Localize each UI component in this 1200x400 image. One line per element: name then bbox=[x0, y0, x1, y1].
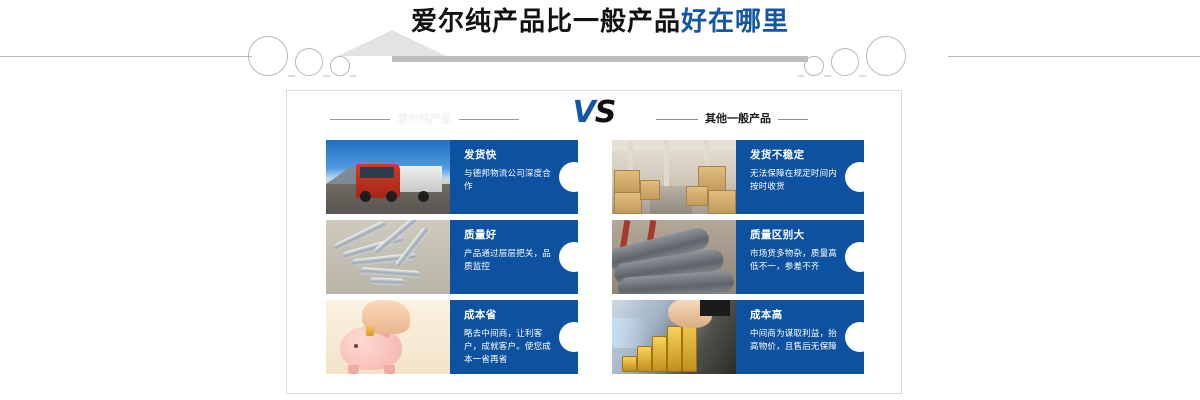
left-column-label: 爱尔纯产品 bbox=[397, 112, 452, 126]
vs-letter-s: S bbox=[595, 95, 616, 130]
card-notch-cutout bbox=[845, 242, 864, 272]
card-title: 发货不稳定 bbox=[750, 149, 838, 162]
card-thumbnail bbox=[612, 220, 736, 294]
drawback-card[interactable]: 质量区别大 市场货多物杂，质量高低不一，参差不齐 bbox=[612, 220, 864, 294]
card-title: 质量好 bbox=[464, 229, 552, 242]
page-title: 爱尔纯产品比一般产品好在哪里 bbox=[0, 8, 1200, 37]
card-thumbnail bbox=[326, 140, 450, 214]
warehouse-boxes-icon bbox=[612, 140, 736, 214]
header-rule-left bbox=[0, 56, 252, 57]
advantage-card[interactable]: 成本省 略去中间商，让利客户，成就客户。使您成本一省再省 bbox=[326, 300, 578, 374]
card-description: 无法保障在规定时间内按时收货 bbox=[750, 168, 838, 194]
card-title: 成本省 bbox=[464, 309, 552, 322]
advantage-card[interactable]: 质量好 产品通过层层把关，品质监控 bbox=[326, 220, 578, 294]
card-body: 质量区别大 市场货多物杂，质量高低不一，参差不齐 bbox=[736, 220, 864, 294]
card-title: 成本高 bbox=[750, 309, 838, 322]
page-title-main: 爱尔纯产品比一般产品 bbox=[411, 7, 681, 37]
page-header: 爱尔纯产品比一般产品好在哪里 bbox=[0, 0, 1200, 84]
card-description: 中间商为谋取利益，抬高物价，且售后无保障 bbox=[750, 328, 838, 354]
drawback-card[interactable]: 发货不稳定 无法保障在规定时间内按时收货 bbox=[612, 140, 864, 214]
decor-link bbox=[859, 75, 866, 76]
decor-circle-medium-icon bbox=[295, 48, 323, 76]
card-notch-cutout bbox=[845, 162, 864, 192]
drawback-card[interactable]: 成本高 中间商为谋取利益，抬高物价，且售后无保障 bbox=[612, 300, 864, 374]
decor-link bbox=[824, 75, 831, 76]
card-notch-cutout bbox=[559, 322, 578, 352]
card-body: 发货不稳定 无法保障在规定时间内按时收货 bbox=[736, 140, 864, 214]
card-body: 质量好 产品通过层层把关，品质监控 bbox=[450, 220, 578, 294]
vs-letter-v: V bbox=[573, 95, 595, 130]
concrete-pipes-icon bbox=[612, 220, 736, 294]
card-description: 产品通过层层把关，品质监控 bbox=[464, 248, 552, 274]
card-thumbnail bbox=[612, 300, 736, 374]
card-thumbnail bbox=[612, 140, 736, 214]
card-body: 成本省 略去中间商，让利客户，成就客户。使您成本一省再省 bbox=[450, 300, 578, 374]
card-thumbnail bbox=[326, 300, 450, 374]
advantage-card[interactable]: 发货快 与德邦物流公司深度合作 bbox=[326, 140, 578, 214]
divider-dash bbox=[459, 119, 519, 120]
divider-dash bbox=[656, 119, 698, 120]
card-notch-cutout bbox=[559, 162, 578, 192]
card-body: 成本高 中间商为谋取利益，抬高物价，且售后无保障 bbox=[736, 300, 864, 374]
decor-circle-large-icon bbox=[248, 36, 288, 76]
card-title: 质量区别大 bbox=[750, 229, 838, 242]
card-title: 发货快 bbox=[464, 149, 552, 162]
right-column-label: 其他一般产品 bbox=[705, 112, 771, 126]
page-title-highlight: 好在哪里 bbox=[681, 7, 789, 37]
card-body: 发货快 与德邦物流公司深度合作 bbox=[450, 140, 578, 214]
decor-link bbox=[288, 75, 295, 76]
right-column-header: 其他一般产品 bbox=[656, 112, 808, 126]
divider-dash bbox=[330, 119, 390, 120]
left-column-header: 爱尔纯产品 bbox=[330, 112, 519, 126]
decor-link bbox=[323, 75, 330, 76]
card-description: 市场货多物杂，质量高低不一，参差不齐 bbox=[750, 248, 838, 274]
card-description: 与德邦物流公司深度合作 bbox=[464, 168, 552, 194]
header-rule-right bbox=[948, 56, 1200, 57]
divider-dash bbox=[778, 119, 808, 120]
card-notch-cutout bbox=[845, 322, 864, 352]
hand-stacking-gold-coins-icon bbox=[612, 300, 736, 374]
card-thumbnail bbox=[326, 220, 450, 294]
piggy-bank-coin-icon bbox=[326, 300, 450, 374]
decor-link bbox=[350, 75, 356, 76]
vs-header-row: VS 爱尔纯产品 其他一般产品 bbox=[286, 96, 902, 138]
decor-circle-large-icon bbox=[866, 36, 906, 76]
red-truck-highway-icon bbox=[326, 140, 450, 214]
card-notch-cutout bbox=[559, 242, 578, 272]
card-description: 略去中间商，让利客户，成就客户。使您成本一省再省 bbox=[464, 328, 552, 367]
plaque-base-edge bbox=[392, 56, 808, 62]
steel-tubes-icon bbox=[326, 220, 450, 294]
comparison-card-grid: 发货快 与德邦物流公司深度合作 发货不稳定 无法保障在规定时间内按时收货 bbox=[326, 140, 864, 382]
decor-link bbox=[798, 75, 804, 76]
